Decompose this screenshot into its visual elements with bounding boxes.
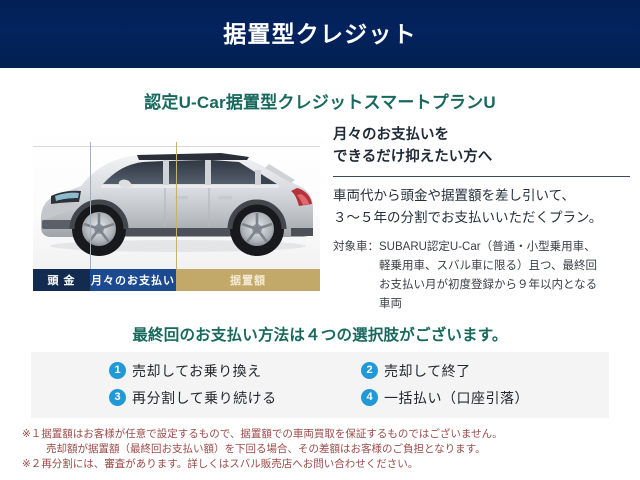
- main-content-row: 頭 金 月々のお支払い 据置額 月々のお支払いを できるだけ抑えたい方へ 車両代…: [0, 113, 640, 314]
- option-item-1[interactable]: 1 売却してお乗り換え: [109, 361, 361, 381]
- footnote-1: ※１ 据置額はお客様が任意で設定するもので、据置額での車両買取を保証するものでは…: [22, 427, 640, 442]
- option-label-3: 再分割して乗り続ける: [132, 388, 277, 408]
- footnote-2: ※２ 再分割には、審査があります。詳しくはスバル販売店へお問い合わせください。: [22, 457, 640, 472]
- lead-heading: 月々のお支払いを できるだけ抑えたい方へ: [333, 124, 632, 169]
- description-block: 月々のお支払いを できるだけ抑えたい方へ 車両代から頭金や据置額を差し引いて、 …: [333, 124, 640, 314]
- option-label-4: 一括払い（口座引落）: [384, 388, 529, 408]
- body-line-1: 車両代から頭金や据置額を差し引いて、: [333, 185, 632, 207]
- footnote-1-text: 据置額はお客様が任意で設定するもので、据置額での車両買取を保証するものではござい…: [41, 427, 640, 442]
- body-copy: 車両代から頭金や据置額を差し引いて、 ３～５年の分割でお支払いいただくプラン。: [333, 185, 632, 229]
- options-grid: 1 売却してお乗り換え 2 売却して終了 3 再分割して乗り続ける 4 一括払い…: [109, 361, 609, 408]
- car-diagram: 頭 金 月々のお支払い 据置額: [33, 124, 320, 291]
- footnote-2-text: 再分割には、審査があります。詳しくはスバル販売店へお問い合わせください。: [41, 457, 640, 472]
- segment-down-payment: 頭 金: [33, 269, 90, 291]
- payment-segment-bar: 頭 金 月々のお支払い 据置額: [33, 269, 320, 291]
- target-line-1: SUBARU認定U-Car（普通・小型乗用車、: [379, 238, 632, 257]
- lead-line-1: 月々のお支払いを: [333, 124, 632, 146]
- option-badge-2: 2: [361, 362, 378, 379]
- option-label-1: 売却してお乗り換え: [132, 361, 262, 381]
- target-line-4: 車両: [379, 295, 632, 314]
- option-item-3[interactable]: 3 再分割して乗り続ける: [109, 388, 361, 408]
- option-label-2: 売却して終了: [384, 361, 471, 381]
- plan-subtitle: 認定U-Car据置型クレジットスマートプランU: [144, 93, 496, 112]
- target-vehicle-label: 対象車：: [333, 238, 379, 314]
- body-line-2: ３～５年の分割でお支払いいただくプラン。: [333, 207, 632, 229]
- segment-divider-2: [176, 142, 177, 269]
- lead-line-2: できるだけ抑えたい方へ: [333, 146, 632, 168]
- segment-monthly-payment: 月々のお支払い: [90, 269, 176, 291]
- segment-divider-1: [90, 142, 91, 269]
- page-title: 据置型クレジット: [223, 23, 417, 46]
- option-badge-4: 4: [361, 389, 378, 406]
- option-badge-3: 3: [109, 389, 126, 406]
- lead-divider: [333, 176, 630, 177]
- footnotes: ※１ 据置額はお客様が任意で設定するもので、据置額での車両買取を保証するものでは…: [22, 427, 640, 473]
- segment-residual-value: 据置額: [176, 269, 320, 291]
- options-panel: 1 売却してお乗り換え 2 売却して終了 3 再分割して乗り続ける 4 一括払い…: [31, 352, 609, 418]
- page-header: 据置型クレジット: [0, 0, 640, 68]
- footnote-1-continued: 売却額が据置額（最終回お支払い額）を下回る場合、その差額はお客様のご負担となりま…: [46, 442, 640, 457]
- footnote-1-mark: ※１: [22, 427, 41, 442]
- target-line-3: お支払い月が初度登録から９年以内となる: [379, 276, 632, 295]
- footnote-2-mark: ※２: [22, 457, 41, 472]
- subtitle-section: 認定U-Car据置型クレジットスマートプランU: [0, 68, 640, 113]
- options-heading: 最終回のお支払い方法は４つの選択肢がございます。: [0, 323, 640, 345]
- target-vehicle-text: SUBARU認定U-Car（普通・小型乗用車、 軽乗用車、スバル車に限る）且つ、…: [379, 238, 632, 314]
- option-item-2[interactable]: 2 売却して終了: [361, 361, 609, 381]
- option-item-4[interactable]: 4 一括払い（口座引落）: [361, 388, 609, 408]
- target-vehicle-block: 対象車： SUBARU認定U-Car（普通・小型乗用車、 軽乗用車、スバル車に限…: [333, 238, 632, 314]
- car-photo: [33, 124, 320, 269]
- target-line-2: 軽乗用車、スバル車に限る）且つ、最終回: [379, 257, 632, 276]
- option-badge-1: 1: [109, 362, 126, 379]
